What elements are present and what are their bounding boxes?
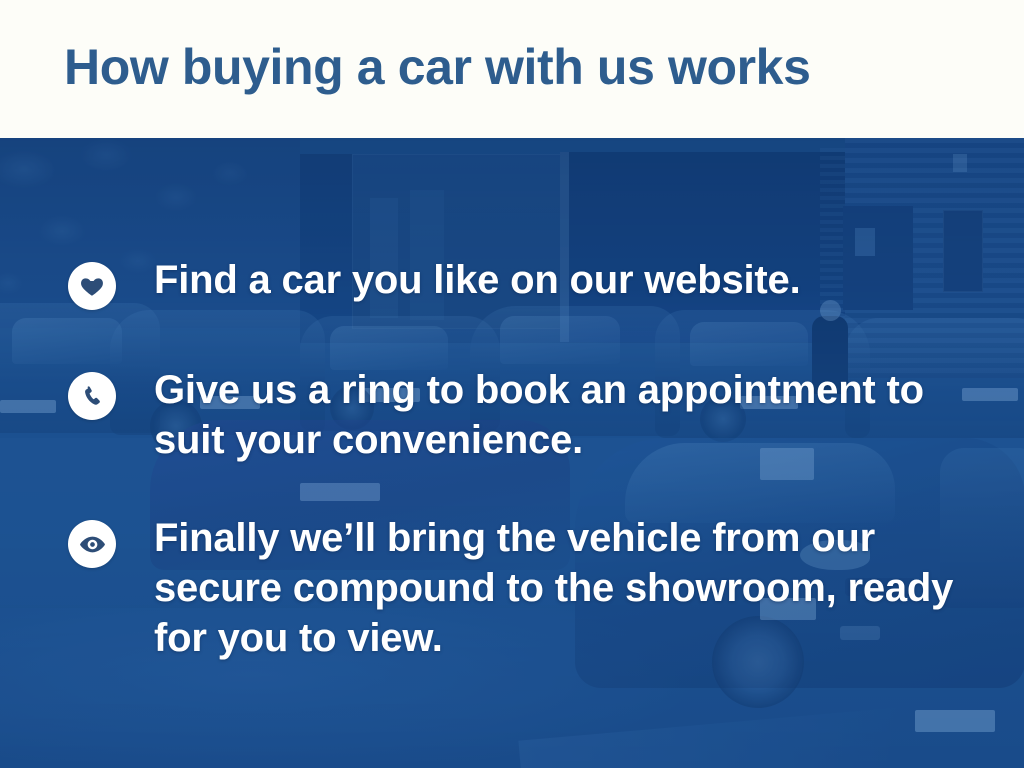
step-item-3: Finally we’ll bring the vehicle from our… [68, 513, 984, 663]
phone-icon [68, 372, 116, 420]
steps-list: Find a car you like on our website. Give… [0, 138, 1024, 768]
step-text-3: Finally we’ll bring the vehicle from our… [154, 513, 984, 663]
page-title: How buying a car with us works [64, 37, 810, 97]
step-item-1: Find a car you like on our website. [68, 255, 800, 310]
slide-canvas: How buying a car with us works Find a ca… [0, 0, 1024, 768]
step-text-2: Give us a ring to book an appointment to… [154, 365, 984, 465]
eye-icon [68, 520, 116, 568]
heart-icon [68, 262, 116, 310]
step-item-2: Give us a ring to book an appointment to… [68, 365, 984, 465]
step-text-1: Find a car you like on our website. [154, 255, 800, 305]
header-band: How buying a car with us works [0, 0, 1024, 138]
